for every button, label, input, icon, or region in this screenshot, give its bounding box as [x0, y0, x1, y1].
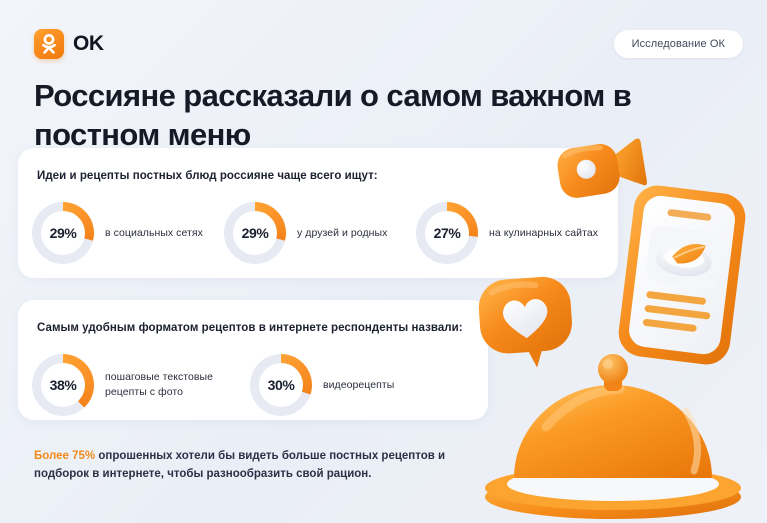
donut-center: 29% [233, 211, 277, 255]
stat-label: на кулинарных сайтах [489, 226, 598, 241]
card-search-sources: Идеи и рецепты постных блюд россияне чащ… [18, 148, 618, 278]
footnote-rest: опрошенных хотели бы видеть больше постн… [34, 450, 445, 480]
infographic-page: OK Исследование ОК Россияне рассказали о… [0, 0, 767, 523]
stat-label: видеорецепты [323, 378, 394, 393]
stat-label: у друзей и родных [297, 226, 387, 241]
brand-name: OK [73, 32, 104, 56]
study-badge: Исследование ОК [614, 30, 743, 58]
stat-item: 30% видеорецепты [250, 354, 460, 416]
card-heading: Идеи и рецепты постных блюд россияне чащ… [37, 170, 378, 182]
stat-label: пошаговые текстовые рецепты с фото [105, 370, 250, 400]
header: OK Исследование ОК [34, 26, 743, 62]
card-recipe-format: Самым удобным форматом рецептов в интерн… [18, 300, 488, 420]
donut-value: 30% [268, 377, 295, 393]
donut-chart: 30% [250, 354, 312, 416]
donut-chart: 27% [416, 202, 478, 264]
donut-value: 29% [50, 225, 77, 241]
stat-item: 29% у друзей и родных [224, 202, 416, 264]
donut-chart: 38% [32, 354, 94, 416]
donut-chart: 29% [32, 202, 94, 264]
stat-item: 38% пошаговые текстовые рецепты с фото [32, 354, 250, 416]
stats-row: 29% в социальных сетях 29% у друзей и ро… [32, 202, 608, 264]
brand-logo: OK [34, 29, 104, 59]
stats-row: 38% пошаговые текстовые рецепты с фото 3… [32, 354, 478, 416]
stat-label: в социальных сетях [105, 226, 203, 241]
food-cloche-3d-icon [468, 345, 758, 523]
card-heading: Самым удобным форматом рецептов в интерн… [37, 322, 463, 334]
donut-value: 29% [242, 225, 269, 241]
page-title: Россияне рассказали о самом важном в пос… [34, 76, 694, 155]
donut-value: 38% [50, 377, 77, 393]
footnote-highlight: Более 75% [34, 450, 95, 462]
donut-center: 29% [41, 211, 85, 255]
donut-center: 30% [259, 363, 303, 407]
footnote: Более 75% опрошенных хотели бы видеть бо… [34, 448, 464, 484]
ok-logo-icon [34, 29, 64, 59]
donut-center: 38% [41, 363, 85, 407]
donut-value: 27% [434, 225, 461, 241]
smartphone-recipe-3d-icon [611, 178, 752, 371]
donut-center: 27% [425, 211, 469, 255]
donut-chart: 29% [224, 202, 286, 264]
stat-item: 29% в социальных сетях [32, 202, 224, 264]
